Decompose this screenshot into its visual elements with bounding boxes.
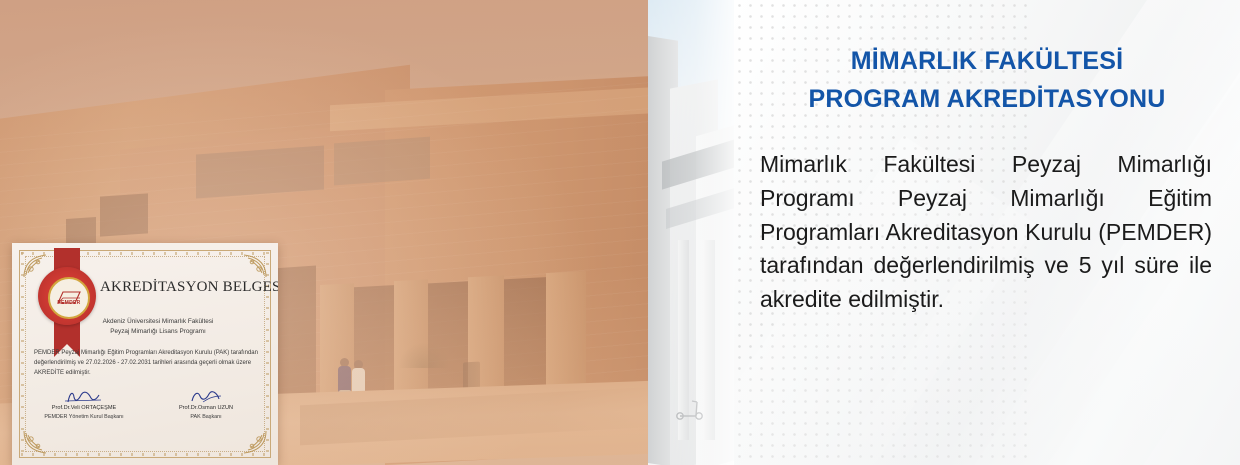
seal-disc: PEMDER — [48, 277, 90, 319]
certificate-signatures: Prof.Dr.Veli ORTAÇEŞME PEMDER Yönetim Ku… — [30, 389, 260, 422]
ornament-corner-icon — [242, 253, 268, 279]
signature-role: PEMDER Yönetim Kurul Başkanı — [30, 413, 138, 422]
certificate-title: AKREDİTASYON BELGESİ — [100, 279, 260, 296]
text-panel: MİMARLIK FAKÜLTESİ PROGRAM AKREDİTASYONU… — [734, 0, 1240, 465]
signature-name: Prof.Dr.Veli ORTAÇEŞME — [30, 404, 138, 413]
page-title-line-1: MİMARLIK FAKÜLTESİ — [851, 47, 1124, 75]
ornament-corner-icon — [22, 253, 48, 279]
ornament-corner-icon — [22, 429, 48, 455]
secondary-photo-strip — [648, 0, 734, 465]
certificate-subject: Akdeniz Üniversitesi Mimarlık Fakültesi … — [58, 317, 258, 338]
page-title: MİMARLIK FAKÜLTESİ PROGRAM AKREDİTASYONU — [762, 42, 1212, 118]
handwritten-signature-icon — [30, 389, 138, 404]
signature-role: PAK Başkanı — [152, 413, 260, 422]
panel-content: MİMARLIK FAKÜLTESİ PROGRAM AKREDİTASYONU… — [734, 0, 1240, 465]
page-title-line-2: PROGRAM AKREDİTASYONU — [762, 80, 1212, 118]
certificate-body-text: PEMDER Peyzaj Mimarlığı Eğitim Programla… — [34, 349, 258, 379]
slide-root: MİMARLIK FAKÜLTESİ MİMARLIK FAKÜ — [0, 0, 1240, 465]
accreditation-certificate: PEMDER AKREDİTASYON BELGESİ Akdeniz Üniv… — [12, 243, 278, 465]
strip-white-fade — [648, 0, 734, 465]
body-paragraph: Mimarlık Fakültesi Peyzaj Mimarlığı Prog… — [760, 148, 1212, 317]
certificate-subject-line-1: Akdeniz Üniversitesi Mimarlık Fakültesi — [58, 317, 258, 327]
signature-name: Prof.Dr.Osman UZUN — [152, 404, 260, 413]
signature-block: Prof.Dr.Osman UZUN PAK Başkanı — [152, 389, 260, 422]
handwritten-signature-icon — [152, 389, 260, 404]
certificate-subject-line-2: Peyzaj Mimarlığı Lisans Programı — [58, 327, 258, 337]
ornament-corner-icon — [242, 429, 268, 455]
signature-block: Prof.Dr.Veli ORTAÇEŞME PEMDER Yönetim Ku… — [30, 389, 138, 422]
seal-label: PEMDER — [50, 300, 88, 306]
